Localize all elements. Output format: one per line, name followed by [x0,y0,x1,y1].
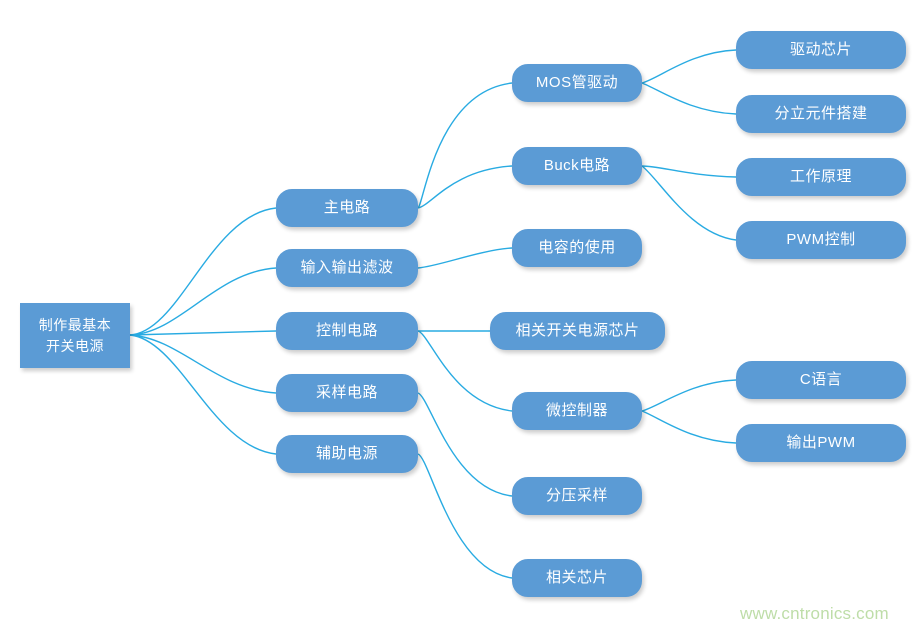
node-drivechip[interactable]: 驱动芯片 [736,31,906,69]
node-pwmout[interactable]: 输出PWM [736,424,906,462]
mindmap-canvas: 制作最基本 开关电源主电路输入输出滤波控制电路采样电路辅助电源MOS管驱动Buc… [0,0,923,629]
node-capuse[interactable]: 电容的使用 [512,229,642,267]
edge-buck-to-pwmctrl [642,166,736,240]
edge-root-to-auxpower [130,335,276,454]
node-relchip[interactable]: 相关芯片 [512,559,642,597]
node-pwmctrl[interactable]: PWM控制 [736,221,906,259]
node-control[interactable]: 控制电路 [276,312,418,350]
edge-mcu-to-pwmout [642,411,736,443]
edge-buck-to-principle [642,166,736,177]
edge-mosdrive-to-discrete [642,83,736,114]
node-auxpower[interactable]: 辅助电源 [276,435,418,473]
edge-auxpower-to-relchip [418,454,512,578]
node-buck[interactable]: Buck电路 [512,147,642,185]
edge-mosdrive-to-drivechip [642,50,736,83]
edge-mcu-to-clang [642,380,736,411]
edge-filter-to-capuse [418,248,512,268]
node-principle[interactable]: 工作原理 [736,158,906,196]
node-mosdrive[interactable]: MOS管驱动 [512,64,642,102]
node-main[interactable]: 主电路 [276,189,418,227]
node-filter[interactable]: 输入输出滤波 [276,249,418,287]
watermark-label: www.cntronics.com [740,604,889,624]
edge-main-to-buck [418,166,512,208]
edge-root-to-sampling [130,335,276,393]
edge-root-to-main [130,208,276,335]
node-divsample[interactable]: 分压采样 [512,477,642,515]
edge-root-to-control [130,331,276,335]
node-smpschip[interactable]: 相关开关电源芯片 [490,312,665,350]
edge-main-to-mosdrive [418,83,512,208]
edge-sampling-to-divsample [418,393,512,496]
node-root[interactable]: 制作最基本 开关电源 [20,303,130,368]
node-discrete[interactable]: 分立元件搭建 [736,95,906,133]
node-clang[interactable]: C语言 [736,361,906,399]
node-sampling[interactable]: 采样电路 [276,374,418,412]
edge-root-to-filter [130,268,276,335]
node-mcu[interactable]: 微控制器 [512,392,642,430]
